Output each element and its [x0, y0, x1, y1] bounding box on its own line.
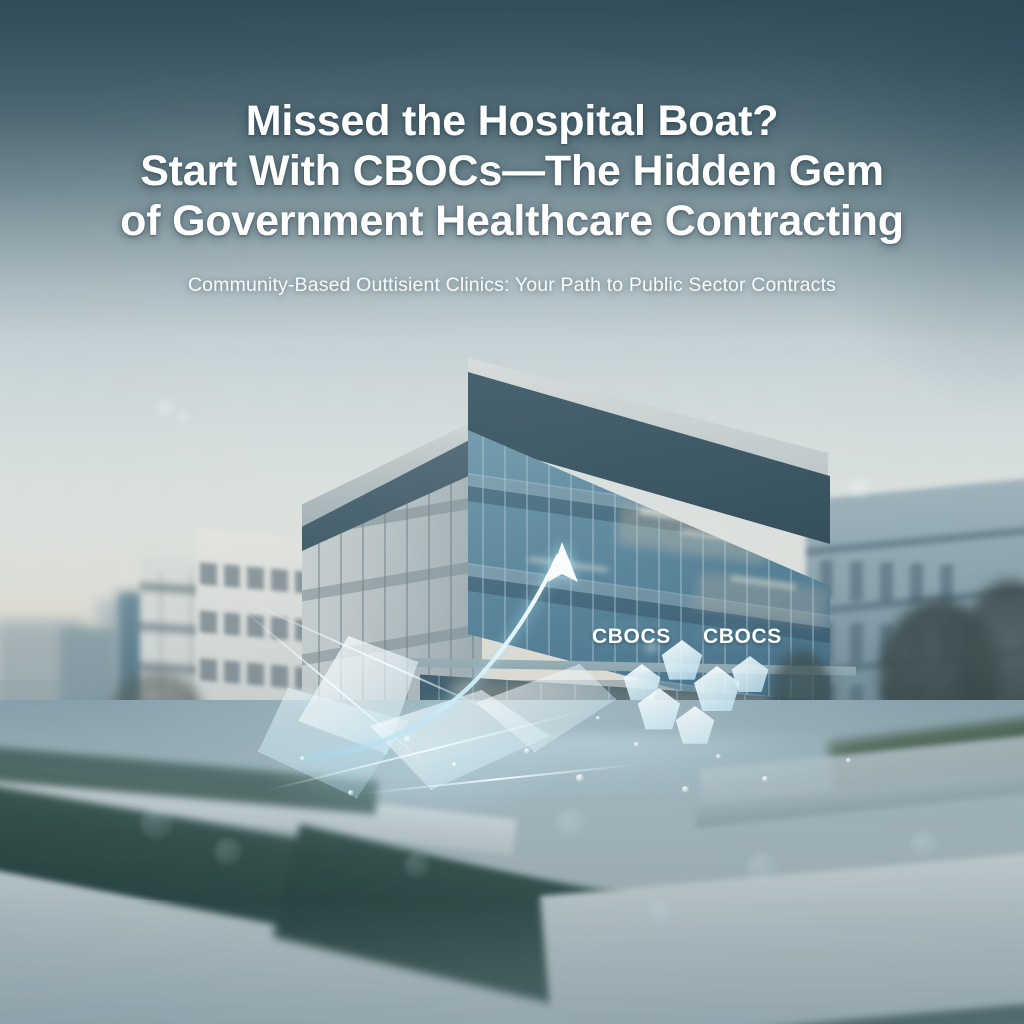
- hexagon-node-cluster: [600, 636, 790, 746]
- depth-of-field-blur: [0, 900, 1024, 1024]
- bokeh: [296, 688, 322, 714]
- particle: [846, 758, 851, 763]
- lens-flare: [846, 474, 872, 500]
- bokeh: [214, 838, 242, 866]
- hero-banner: CBOCS CBOCS Missed the Hospital Boat? St…: [0, 0, 1024, 1024]
- cbocs-label-right: CBOCS: [703, 625, 782, 649]
- lens-flare: [642, 638, 660, 656]
- lens-flare: [154, 396, 176, 418]
- sky-vignette: [0, 0, 1024, 340]
- particle: [348, 790, 354, 796]
- particle: [300, 756, 305, 761]
- particle: [404, 736, 411, 743]
- bokeh: [140, 806, 174, 840]
- bokeh: [910, 830, 938, 858]
- bokeh: [404, 852, 430, 878]
- hexagon-node: [674, 706, 716, 748]
- particle: [682, 786, 689, 793]
- lens-flare: [176, 410, 190, 424]
- bokeh: [556, 808, 586, 838]
- particle: [634, 742, 639, 747]
- bokeh: [746, 852, 778, 884]
- particle: [524, 748, 530, 754]
- particle: [576, 774, 584, 782]
- particle: [452, 762, 457, 767]
- particle: [716, 754, 721, 759]
- particle: [762, 776, 768, 782]
- particle: [596, 716, 600, 720]
